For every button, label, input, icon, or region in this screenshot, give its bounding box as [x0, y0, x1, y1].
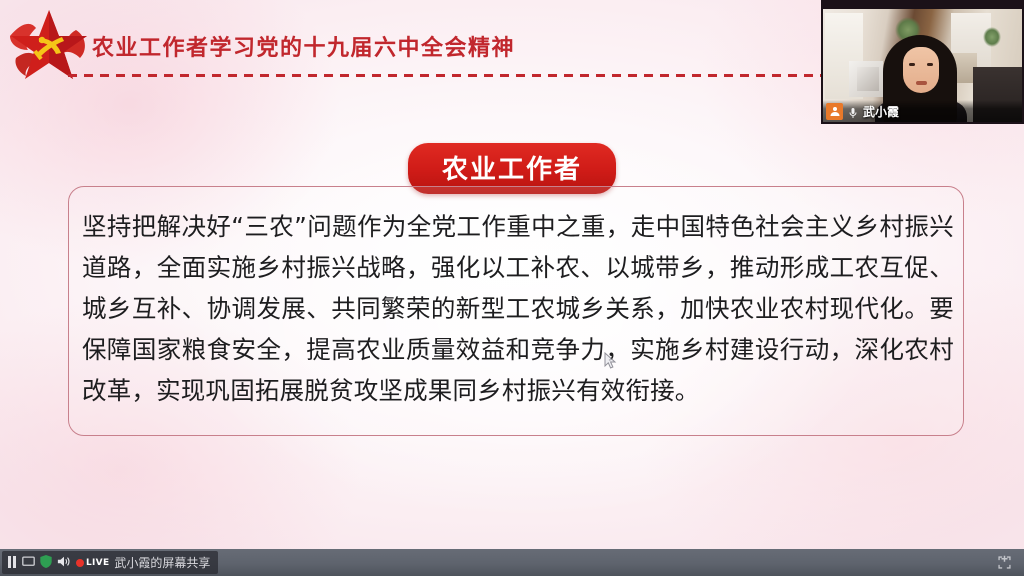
live-badge: LIVE [76, 558, 109, 568]
pause-icon[interactable] [7, 553, 17, 572]
live-indicator-dot [76, 559, 84, 567]
fullscreen-expand-icon[interactable] [990, 553, 1018, 572]
shield-icon[interactable] [40, 553, 52, 572]
speaker-volume-icon[interactable] [57, 553, 71, 572]
participant-name: 武小霞 [863, 103, 899, 120]
share-status-pill[interactable]: LIVE 武小霞的屏幕共享 [2, 551, 218, 574]
microphone-icon [847, 104, 859, 119]
page-title: 农业工作者学习党的十九届六中全会精神 [92, 30, 515, 62]
live-label: LIVE [86, 558, 109, 568]
person-avatar-icon [826, 103, 843, 120]
video-name-bar: 武小霞 [823, 100, 1022, 122]
header-dashed-divider [68, 74, 948, 77]
screen-share-control-bar[interactable]: LIVE 武小霞的屏幕共享 [0, 549, 1024, 576]
screen-share-icon[interactable] [22, 553, 35, 572]
participant-video-tile[interactable]: 武小霞 [821, 0, 1024, 124]
screen-share-slide: 农业工作者学习党的十九届六中全会精神 [0, 0, 1024, 576]
share-status-label: 武小霞的屏幕共享 [114, 554, 210, 571]
content-body-text: 坚持把解决好“三农”问题作为全党工作重中之重，走中国特色社会主义乡村振兴道路，全… [82, 206, 954, 411]
